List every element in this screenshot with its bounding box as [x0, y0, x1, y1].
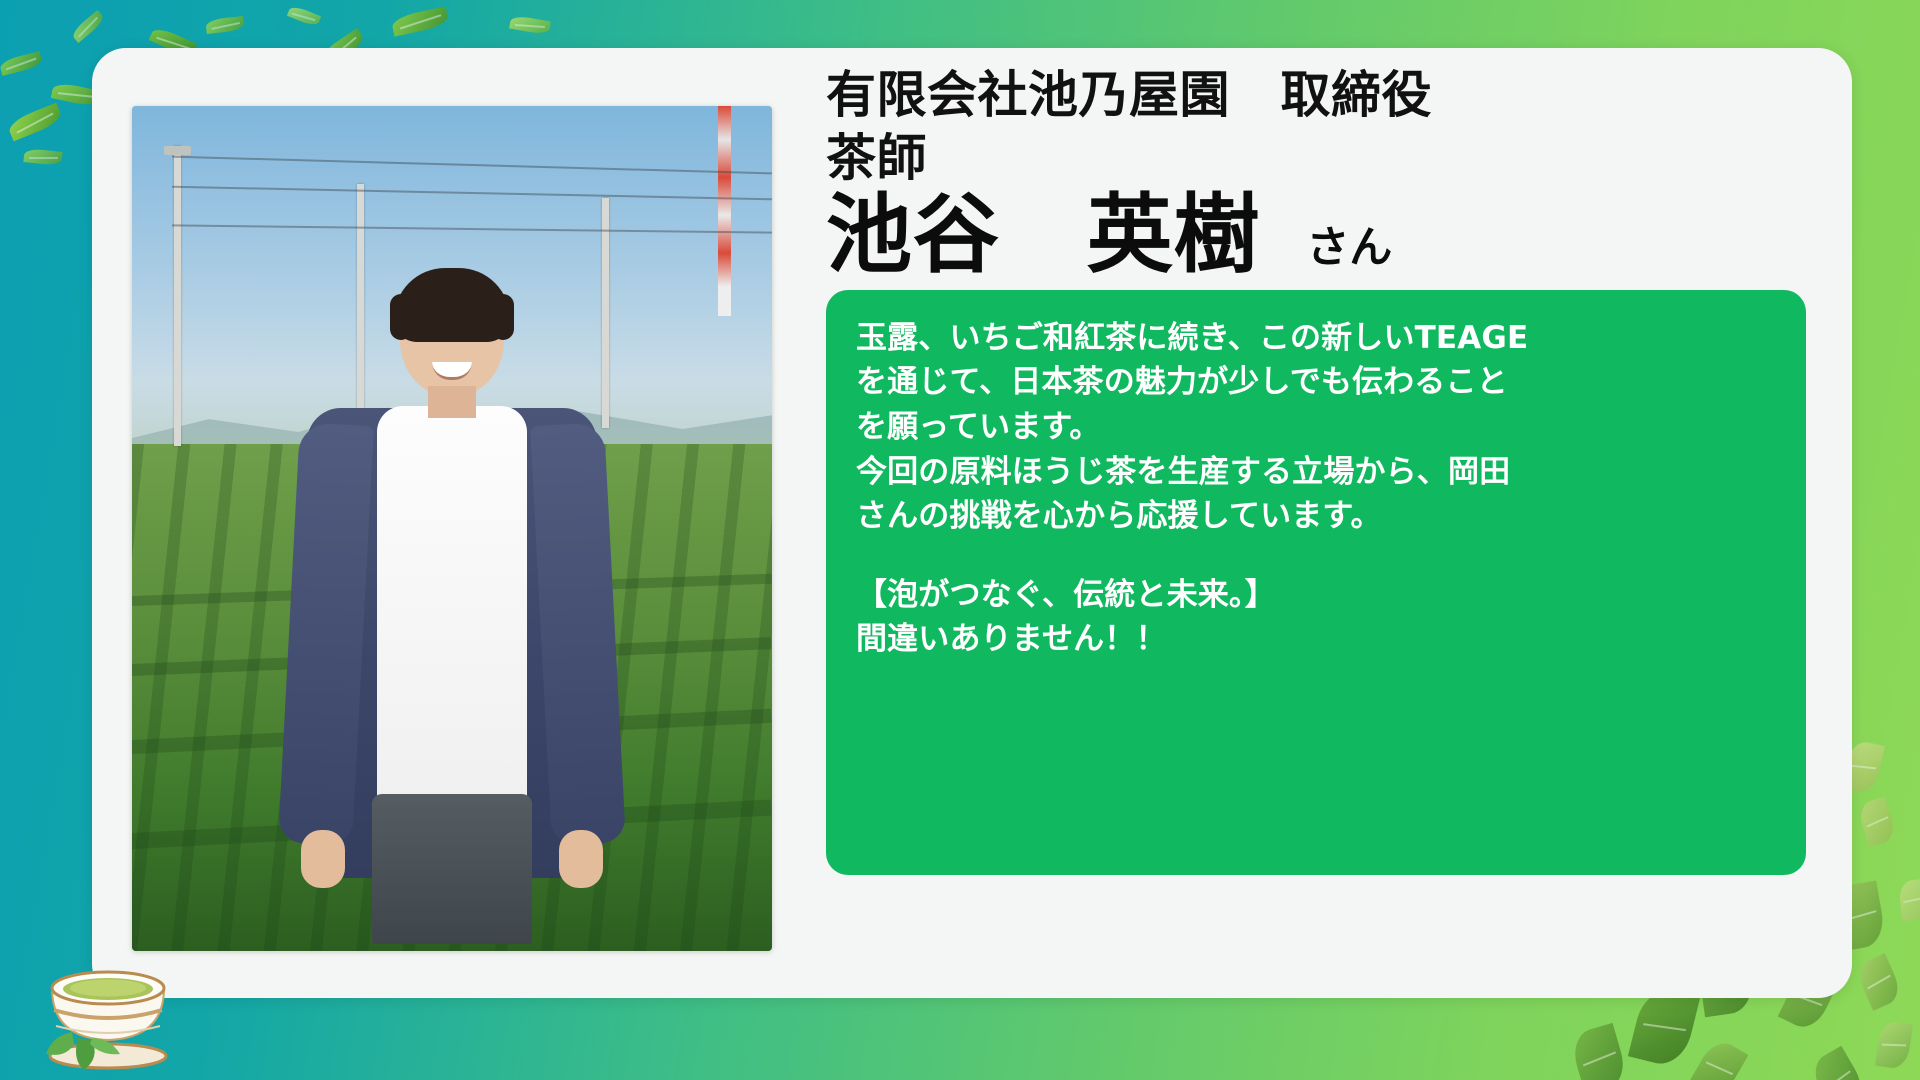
portrait-photo: [132, 106, 772, 951]
tea-leaf-icon: [1856, 796, 1898, 847]
tea-leaf-icon: [1690, 1036, 1749, 1080]
profile-card: 有限会社池乃屋園 取締役 茶師 池谷 英樹 さん 玉露、いちご和紅茶に続き、この…: [92, 48, 1852, 998]
affiliation-line-1: 有限会社池乃屋園 取締役: [826, 66, 1806, 125]
tea-leaf-icon: [1898, 879, 1920, 922]
name-honorific: さん: [1306, 227, 1392, 270]
tea-leaf-icon: [6, 103, 64, 142]
hand-left: [301, 830, 345, 888]
hand-right: [559, 830, 603, 888]
tea-leaf-icon: [1807, 1046, 1870, 1080]
tea-leaf-icon: [23, 148, 62, 166]
message-box: 玉露、いちご和紅茶に続き、この新しいTEAGE を通じて、日本茶の魅力が少しでも…: [826, 290, 1806, 875]
trousers: [372, 794, 532, 944]
message-spacer: [856, 539, 1776, 573]
neck: [428, 386, 476, 418]
message-closing-line: 間違いありません！！: [856, 617, 1776, 662]
red-white-tower: [718, 106, 731, 316]
photo-column: [92, 48, 772, 998]
tea-leaf-icon: [1568, 1023, 1629, 1080]
tea-leaf-icon: [287, 4, 321, 27]
message-line: さんの挑戦を心から応援しています。: [856, 494, 1776, 539]
slide-canvas: 有限会社池乃屋園 取締役 茶師 池谷 英樹 さん 玉露、いちご和紅茶に続き、この…: [0, 0, 1920, 1080]
message-line: を通じて、日本茶の魅力が少しでも伝わること: [856, 360, 1776, 405]
affiliation-line-2: 茶師: [826, 129, 1806, 188]
message-line: 玉露、いちご和紅茶に続き、この新しいTEAGE: [856, 316, 1776, 361]
hair: [394, 268, 510, 342]
white-tshirt: [377, 406, 527, 836]
tea-leaf-icon: [1854, 953, 1905, 1011]
tea-leaf-icon: [70, 10, 106, 43]
text-column: 有限会社池乃屋園 取締役 茶師 池谷 英樹 さん 玉露、いちご和紅茶に続き、この…: [772, 48, 1852, 998]
message-closing-line: 【泡がつなぐ、伝統と未来。】: [856, 573, 1776, 618]
smile: [432, 362, 472, 380]
tea-leaf-icon: [0, 51, 43, 76]
tea-leaf-icon: [391, 6, 450, 36]
tea-leaf-icon: [205, 16, 244, 34]
person-name: 池谷 英樹: [826, 192, 1260, 280]
name-row: 池谷 英樹 さん: [826, 192, 1806, 280]
tea-leaf-icon: [509, 15, 551, 36]
message-line: を願っています。: [856, 405, 1776, 450]
portrait-subject: [287, 274, 617, 934]
message-line: 今回の原料ほうじ茶を生産する立場から、岡田: [856, 450, 1776, 495]
utility-pole-left: [174, 146, 181, 446]
tea-leaf-icon: [1875, 1020, 1913, 1070]
